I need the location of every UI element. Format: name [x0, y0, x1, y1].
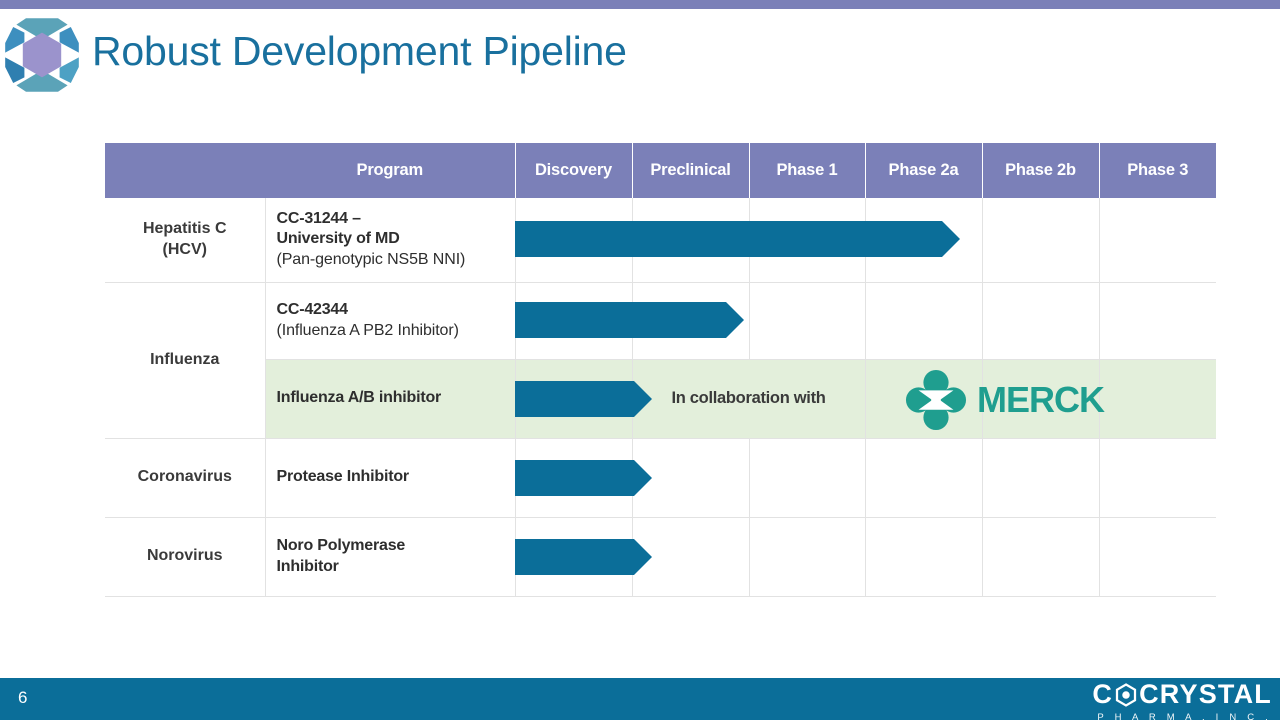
table-row: Influenza CC-42344 (Influenza A PB2 Inhi…: [105, 282, 1216, 359]
cell-discovery: [515, 517, 632, 596]
header-preclinical: Preclinical: [632, 143, 749, 198]
cell-phase-2b: [982, 517, 1099, 596]
program-name-line-1: CC-31244 –: [277, 209, 509, 230]
cell-phase-3: [1099, 282, 1216, 359]
indication-hepatitis-c: Hepatitis C (HCV): [105, 198, 265, 282]
pipeline-table-container: Program Discovery Preclinical Phase 1 Ph…: [105, 143, 1216, 597]
table-header-row: Program Discovery Preclinical Phase 1 Ph…: [105, 143, 1216, 198]
header-phase-1: Phase 1: [749, 143, 865, 198]
program-name: CC-42344: [277, 300, 509, 321]
header-program: Program: [265, 143, 515, 198]
cell-discovery: [515, 198, 632, 282]
cell-phase-2a: [865, 517, 982, 596]
program-subtitle: (Influenza A PB2 Inhibitor): [277, 321, 509, 342]
cell-phase-2a: [865, 438, 982, 517]
program-name-line-1: Noro Polymerase: [277, 536, 509, 557]
cell-discovery: [515, 359, 632, 438]
indication-coronavirus: Coronavirus: [105, 438, 265, 517]
header-discovery: Discovery: [515, 143, 632, 198]
cell-preclinical: [632, 282, 749, 359]
cell-phase-2a: [865, 359, 982, 438]
cell-phase-2a: [865, 282, 982, 359]
program-name: Protease Inhibitor: [277, 467, 509, 488]
page-number: 6: [18, 688, 27, 708]
indication-influenza: Influenza: [105, 282, 265, 438]
cell-discovery: [515, 282, 632, 359]
table-row: Hepatitis C (HCV) CC-31244 – University …: [105, 198, 1216, 282]
cell-phase-3: [1099, 359, 1216, 438]
cell-phase-2a: [865, 198, 982, 282]
company-tagline: P H A R M A , I N C .: [1092, 712, 1272, 720]
company-wordmark: C CRYSTAL: [1092, 681, 1272, 708]
program-name-line-2: University of MD: [277, 229, 509, 250]
cell-phase-3: [1099, 438, 1216, 517]
cell-preclinical: [632, 517, 749, 596]
program-protease-inhibitor: Protease Inhibitor: [265, 438, 515, 517]
header-phase-2a: Phase 2a: [865, 143, 982, 198]
company-name-part-2: CRYSTAL: [1139, 681, 1272, 708]
program-subtitle: (Pan-genotypic NS5B NNI): [277, 250, 509, 271]
cell-discovery: [515, 438, 632, 517]
indication-norovirus: Norovirus: [105, 517, 265, 596]
cell-phase-1: [749, 438, 865, 517]
table-row: Norovirus Noro Polymerase Inhibitor: [105, 517, 1216, 596]
program-noro-polymerase-inhibitor: Noro Polymerase Inhibitor: [265, 517, 515, 596]
cell-preclinical: [632, 198, 749, 282]
cell-preclinical: [632, 438, 749, 517]
company-name-part-1: C: [1092, 681, 1113, 708]
slide: Robust Development Pipeline Program Disc…: [0, 0, 1280, 720]
cell-phase-1: [749, 282, 865, 359]
cell-phase-1: [749, 517, 865, 596]
cell-phase-2b: [982, 198, 1099, 282]
indication-line-2: (HCV): [163, 241, 207, 258]
cell-phase-3: [1099, 517, 1216, 596]
cocrystal-hexagon-logo-icon: [2, 13, 82, 97]
program-cc-31244: CC-31244 – University of MD (Pan-genotyp…: [265, 198, 515, 282]
page-title: Robust Development Pipeline: [92, 28, 627, 75]
indication-line-1: Hepatitis C: [143, 220, 227, 237]
cell-phase-2b: [982, 438, 1099, 517]
table-row-merck-collaboration: Influenza A/B inhibitor In collaboration…: [105, 359, 1216, 438]
program-name-line-2: Inhibitor: [277, 557, 509, 578]
cell-phase-2b: [982, 282, 1099, 359]
collaboration-label: In collaboration with: [632, 359, 865, 438]
top-accent-band: [0, 0, 1280, 9]
header-phase-2b: Phase 2b: [982, 143, 1099, 198]
program-influenza-ab-inhibitor: Influenza A/B inhibitor: [265, 359, 515, 438]
crystal-o-icon: [1114, 683, 1138, 707]
pipeline-table: Program Discovery Preclinical Phase 1 Ph…: [105, 143, 1216, 597]
program-name: Influenza A/B inhibitor: [277, 388, 509, 409]
table-row: Coronavirus Protease Inhibitor: [105, 438, 1216, 517]
cell-phase-2b: [982, 359, 1099, 438]
footer-bar: [0, 678, 1280, 720]
program-cc-42344: CC-42344 (Influenza A PB2 Inhibitor): [265, 282, 515, 359]
cell-phase-1: [749, 198, 865, 282]
header-indication: [105, 143, 265, 198]
header-phase-3: Phase 3: [1099, 143, 1216, 198]
cocrystal-footer-logo: C CRYSTAL P H A R M A , I N C .: [1092, 681, 1272, 720]
cell-phase-3: [1099, 198, 1216, 282]
